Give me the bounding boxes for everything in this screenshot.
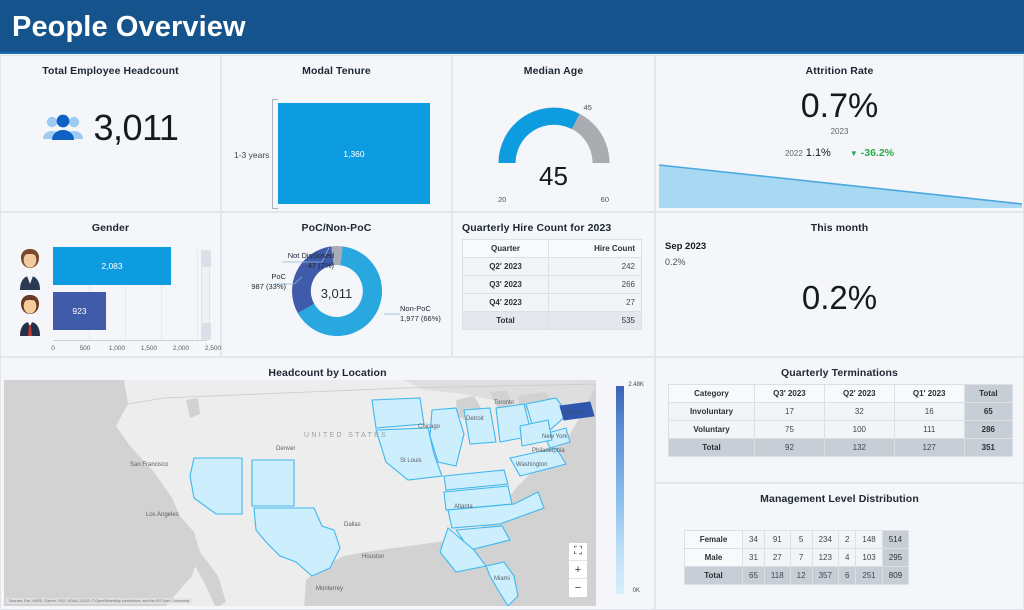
cell-total: 514 — [882, 531, 908, 549]
cell-quarter: Q2' 2023 — [463, 258, 549, 276]
table-row[interactable]: Q4' 2023 27 — [463, 294, 642, 312]
col-category: Category — [669, 385, 755, 403]
gauge-arc — [493, 95, 615, 167]
gender-bar-male-value: 923 — [72, 306, 86, 316]
panel-median-age: Median Age 45 20 45 60 — [452, 55, 655, 212]
cell-level-1: 65 — [743, 567, 765, 585]
cell-level-2: 91 — [764, 531, 790, 549]
panel-title-headcount-map: Headcount by Location — [1, 358, 654, 379]
cell-total-value: 535 — [549, 312, 642, 330]
donut-label-nonpoc-text: Non-PoC — [400, 304, 431, 313]
median-age-gauge: 45 20 45 60 — [453, 77, 654, 207]
dashboard-root: People Overview Total Employee Headcount… — [0, 0, 1024, 610]
donut-label-not-disclosed-text: Not Disclosed — [288, 251, 334, 260]
map-canvas[interactable]: San Francisco Los Angeles Denver Dallas … — [4, 380, 596, 606]
panel-title-quarterly-terminations: Quarterly Terminations — [656, 358, 1023, 379]
cell-quarter: Q4' 2023 — [463, 294, 549, 312]
cell-category: Male — [685, 549, 743, 567]
cell-total: 809 — [882, 567, 908, 585]
this-month-value: 0.2% — [656, 279, 1023, 317]
col-q2: Q2' 2023 — [824, 385, 894, 403]
panel-title-attrition-rate: Attrition Rate — [656, 56, 1023, 77]
gender-tick-0: 0 — [51, 345, 55, 352]
gender-scrollbar[interactable] — [201, 250, 210, 340]
donut-label-nonpoc: Non-PoC 1,977 (66%) — [400, 304, 441, 324]
cell-q2: 132 — [824, 439, 894, 457]
panel-attrition-rate: Attrition Rate 0.7% 2023 20221.1% ▼ -36.… — [655, 55, 1024, 212]
map-legend-max: 2.48K — [628, 382, 644, 388]
table-row[interactable]: Involuntary 17 32 16 65 — [669, 403, 1013, 421]
cell-total: 286 — [964, 421, 1012, 439]
cell-q3: 75 — [755, 421, 825, 439]
gender-axis-line — [53, 340, 207, 341]
this-month-sub-value: 0.2% — [665, 257, 686, 267]
map-controls[interactable]: ⛶ + − — [568, 542, 588, 598]
col-total: Total — [964, 385, 1012, 403]
panel-this-month: This month Sep 2023 0.2% 0.2% — [655, 212, 1024, 357]
headcount-value: 3,011 — [94, 107, 179, 149]
donut-label-not-disclosed: Not Disclosed 47 (2%) — [244, 251, 334, 271]
cell-level-3: 5 — [790, 531, 812, 549]
gender-tick-3: 1,500 — [141, 345, 157, 352]
donut-label-poc: PoC 987 (33%) — [224, 272, 286, 292]
table-header-row: Quarter Hire Count — [463, 240, 642, 258]
table-row[interactable]: Q2' 2023 242 — [463, 258, 642, 276]
map-zoom-out-button[interactable]: − — [569, 579, 587, 597]
tenure-bar-value: 1,360 — [343, 149, 364, 159]
attrition-prev-year: 2022 — [785, 149, 803, 158]
donut-label-not-disclosed-value: 47 (2%) — [308, 261, 334, 270]
gender-tick-1: 500 — [80, 345, 91, 352]
cell-q1: 111 — [894, 421, 964, 439]
cell-hire-count: 27 — [549, 294, 642, 312]
cell-q2: 32 — [824, 403, 894, 421]
cell-level-3: 7 — [790, 549, 812, 567]
cell-level-1: 31 — [743, 549, 765, 567]
gender-scrollbar-thumb-bottom[interactable] — [202, 323, 211, 339]
cell-level-2: 27 — [764, 549, 790, 567]
cell-q1: 16 — [894, 403, 964, 421]
people-group-icon — [43, 114, 83, 142]
donut-label-nonpoc-value: 1,977 (66%) — [400, 314, 441, 323]
map-label-miami: Miami — [494, 576, 510, 582]
table-total-row: Total 535 — [463, 312, 642, 330]
panel-modal-tenure: Modal Tenure 1-3 years 1,360 — [221, 55, 452, 212]
management-level-table: Female 34 91 5 234 2 148 514 Male 31 27 … — [684, 530, 909, 585]
page-header: People Overview — [0, 0, 1024, 54]
map-label-boston: Boston — [564, 410, 583, 416]
cell-q2: 100 — [824, 421, 894, 439]
cell-hire-count: 242 — [549, 258, 642, 276]
cell-level-5: 2 — [838, 531, 855, 549]
cell-q3: 17 — [755, 403, 825, 421]
cell-level-2: 118 — [764, 567, 790, 585]
cell-level-6: 148 — [856, 531, 882, 549]
cell-category: Involuntary — [669, 403, 755, 421]
cell-quarter: Q3' 2023 — [463, 276, 549, 294]
panel-title-this-month: This month — [656, 213, 1023, 234]
poc-donut-chart: 3,011 Not Disclosed 47 (2%) PoC 987 (33%… — [222, 234, 451, 346]
panel-total-headcount: Total Employee Headcount 3,011 — [0, 55, 221, 212]
tenure-category-label: 1-3 years — [234, 150, 269, 160]
panel-quarterly-terminations: Quarterly Terminations Category Q3' 2023… — [655, 357, 1024, 483]
col-quarter: Quarter — [463, 240, 549, 258]
cell-category: Voluntary — [669, 421, 755, 439]
attrition-year: 2023 — [656, 127, 1023, 136]
attrition-trend-area — [659, 163, 1022, 208]
cell-category: Female — [685, 531, 743, 549]
cell-total: 295 — [882, 549, 908, 567]
map-label-united-states: UNITED STATES — [304, 432, 388, 439]
cell-q3: 92 — [755, 439, 825, 457]
map-label-atlanta: Atlanta — [454, 504, 473, 510]
gender-tick-5: 2,500 — [205, 345, 221, 352]
table-header-row: Category Q3' 2023 Q2' 2023 Q1' 2023 Tota… — [669, 385, 1013, 403]
cell-level-4: 234 — [812, 531, 838, 549]
cell-level-4: 123 — [812, 549, 838, 567]
gauge-tick-max: 60 — [601, 195, 609, 204]
tenure-bar[interactable]: 1,360 — [278, 103, 430, 204]
attrition-comparison: 20221.1% ▼ -36.2% — [656, 147, 1023, 159]
gender-scrollbar-thumb-top[interactable] — [202, 251, 211, 267]
col-hire-count: Hire Count — [549, 240, 642, 258]
cell-category: Total — [669, 439, 755, 457]
map-legend-min: 0K — [633, 588, 640, 594]
panel-title-gender: Gender — [1, 213, 220, 234]
panel-title-management-distribution: Management Level Distribution — [656, 484, 1023, 505]
table-total-row: Total 65 118 12 357 6 251 809 — [685, 567, 909, 585]
panel-title-modal-tenure: Modal Tenure — [222, 56, 451, 77]
attrition-delta: ▼ -36.2% — [850, 147, 894, 159]
gender-bar-male[interactable]: 923 — [53, 292, 106, 330]
table-row[interactable]: Male 31 27 7 123 4 103 295 — [685, 549, 909, 567]
cell-total: 351 — [964, 439, 1012, 457]
cell-level-1: 34 — [743, 531, 765, 549]
map-geometry — [4, 380, 596, 606]
cell-category: Total — [685, 567, 743, 585]
cell-q1: 127 — [894, 439, 964, 457]
panel-title-poc: PoC/Non-PoC — [222, 213, 451, 234]
female-avatar-icon — [15, 246, 45, 290]
male-avatar-icon — [15, 292, 45, 336]
cell-level-5: 4 — [838, 549, 855, 567]
map-label-dallas: Dallas — [344, 522, 361, 528]
gender-gridline — [197, 250, 198, 340]
modal-tenure-chart: 1-3 years 1,360 — [222, 77, 451, 217]
cell-level-6: 103 — [856, 549, 882, 567]
cell-level-4: 357 — [812, 567, 838, 585]
median-age-value: 45 — [453, 161, 654, 192]
panel-title-quarterly-hires: Quarterly Hire Count for 2023 — [453, 213, 654, 234]
map-label-philadelphia: Philadelphia — [532, 448, 565, 454]
map-label-toronto: Toronto — [494, 400, 514, 406]
map-label-los-angeles: Los Angeles — [146, 512, 179, 518]
table-row[interactable]: Female 34 91 5 234 2 148 514 — [685, 531, 909, 549]
panel-gender: Gender 2,083 — [0, 212, 221, 357]
table-row[interactable]: Q3' 2023 266 — [463, 276, 642, 294]
map-label-st-louis: St Louis — [400, 458, 422, 464]
gauge-tick-min: 20 — [498, 195, 506, 204]
cell-total: 65 — [964, 403, 1012, 421]
attrition-delta-value: -36.2% — [861, 147, 894, 159]
panel-title-total-headcount: Total Employee Headcount — [1, 56, 220, 77]
donut-label-poc-value: 987 (33%) — [251, 282, 286, 291]
donut-label-poc-text: PoC — [271, 272, 286, 281]
gender-tick-2: 1,000 — [109, 345, 125, 352]
gender-tick-4: 2,000 — [173, 345, 189, 352]
gender-chart: 2,083 923 0 500 1,000 1,500 2,000 — [1, 234, 220, 346]
header-rule — [0, 52, 1024, 54]
cell-level-5: 6 — [838, 567, 855, 585]
table-total-row: Total 92 132 127 351 — [669, 439, 1013, 457]
panel-quarterly-hires: Quarterly Hire Count for 2023 Quarter Hi… — [452, 212, 655, 357]
table-row[interactable]: Voluntary 75 100 111 286 — [669, 421, 1013, 439]
gauge-tick-mid: 45 — [584, 103, 592, 112]
map-label-new-york: New York — [542, 434, 567, 440]
map-fullscreen-icon[interactable]: ⛶ — [569, 543, 587, 561]
map-label-detroit: Detroit — [466, 416, 484, 422]
delta-down-caret-icon: ▼ — [850, 149, 858, 158]
quarterly-hire-table: Quarter Hire Count Q2' 2023 242 Q3' 2023… — [462, 239, 642, 330]
attrition-prev-value: 1.1% — [806, 147, 831, 159]
gender-bar-female-value: 2,083 — [101, 261, 122, 271]
map-label-houston: Houston — [362, 554, 384, 560]
cell-hire-count: 266 — [549, 276, 642, 294]
cell-total-label: Total — [463, 312, 549, 330]
col-q3: Q3' 2023 — [755, 385, 825, 403]
panel-management-distribution: Management Level Distribution Female 34 … — [655, 483, 1024, 610]
map-legend-gradient — [616, 386, 624, 594]
this-month-period: Sep 2023 — [665, 241, 706, 252]
cell-level-3: 12 — [790, 567, 812, 585]
attrition-value: 0.7% — [656, 89, 1023, 123]
map-label-san-francisco: San Francisco — [130, 462, 168, 468]
cell-level-6: 251 — [856, 567, 882, 585]
map-zoom-in-button[interactable]: + — [569, 561, 587, 579]
quarterly-terminations-table: Category Q3' 2023 Q2' 2023 Q1' 2023 Tota… — [668, 384, 1013, 457]
headcount-kpi: 3,011 — [1, 107, 220, 149]
col-q1: Q1' 2023 — [894, 385, 964, 403]
map-label-washington: Washington — [516, 462, 547, 468]
panel-headcount-map: Headcount by Location — [0, 357, 655, 610]
panel-title-median-age: Median Age — [453, 56, 654, 77]
map-attribution: Sources: Esri, HERE, Garmin, FAO, NOAA, … — [6, 598, 192, 604]
map-label-denver: Denver — [276, 446, 295, 452]
panel-poc: PoC/Non-PoC 3,011 Not Disclosed — [221, 212, 452, 357]
map-label-chicago: Chicago — [418, 424, 440, 430]
map-label-monterrey: Monterrey — [316, 586, 343, 592]
page-title: People Overview — [0, 13, 246, 42]
gender-bar-female[interactable]: 2,083 — [53, 247, 171, 285]
